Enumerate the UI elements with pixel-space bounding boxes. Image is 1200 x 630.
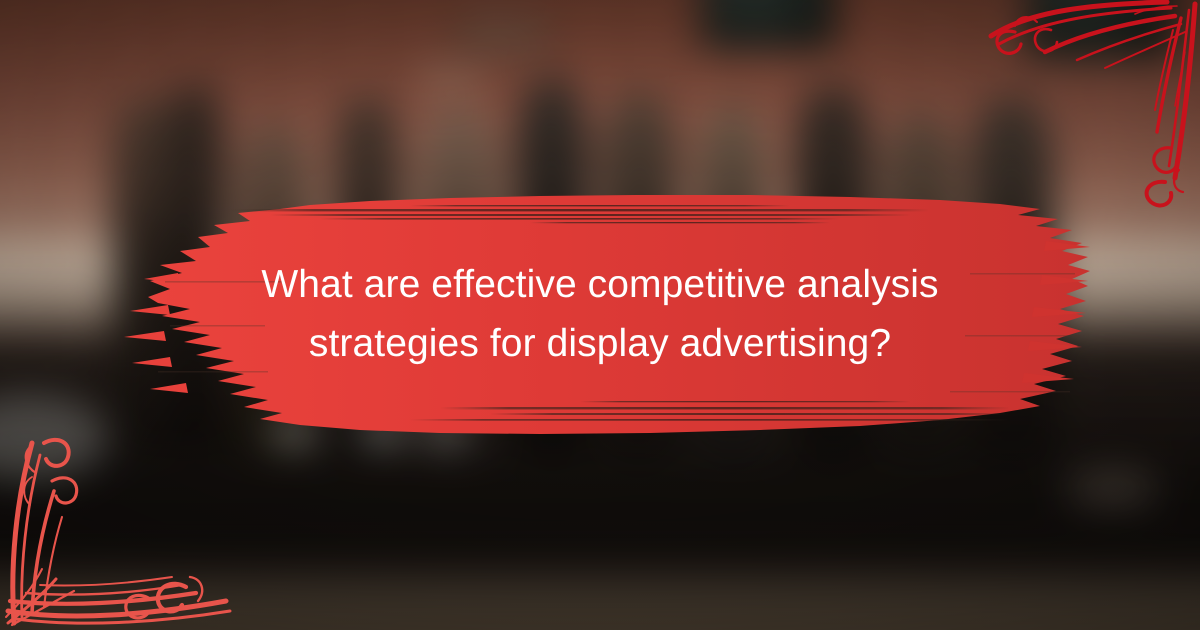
- share-card: What are effective competitive analysis …: [0, 0, 1200, 630]
- headline-text: What are effective competitive analysis …: [150, 255, 1050, 374]
